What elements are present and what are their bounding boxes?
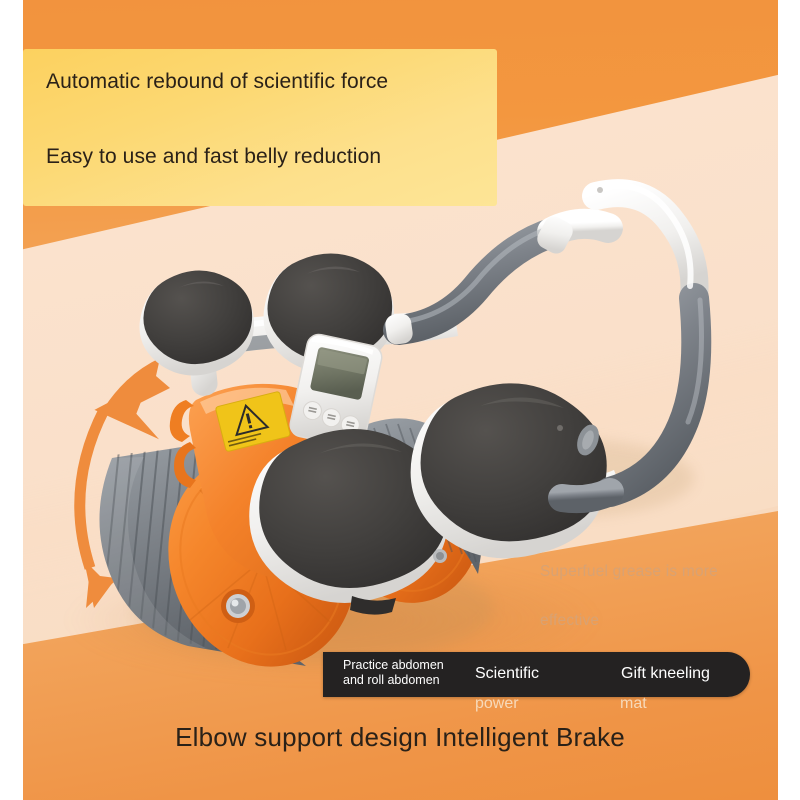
feature-pill-bar: Practice abdomen and roll abdomen Scient… (323, 652, 750, 697)
feature-item-scientific-power-overflow: power (475, 695, 519, 713)
side-text-line-2: effective (540, 612, 599, 630)
axle-bolt (221, 589, 255, 623)
product-promo-image: Automatic rebound of scientific force Ea… (0, 0, 800, 800)
elbow-pad-lower-right (411, 383, 607, 558)
feature-item-gift-kneeling-mat: Gift kneeling (621, 664, 710, 683)
side-text-line-1: Superfuel grease is more (540, 563, 718, 581)
caption-panel: Automatic rebound of scientific force Ea… (23, 49, 497, 206)
caption-line-1: Automatic rebound of scientific force (46, 69, 476, 94)
feature-item-scientific-power: Scientific (475, 664, 539, 683)
bottom-headline: Elbow support design Intelligent Brake (0, 722, 800, 753)
caption-line-2: Easy to use and fast belly reduction (46, 144, 476, 169)
feature-item-gift-kneeling-mat-overflow: mat (620, 695, 647, 713)
elbow-pad-upper-left (139, 270, 254, 375)
feature-item-practice-abdomen: Practice abdomen and roll abdomen (343, 658, 444, 688)
